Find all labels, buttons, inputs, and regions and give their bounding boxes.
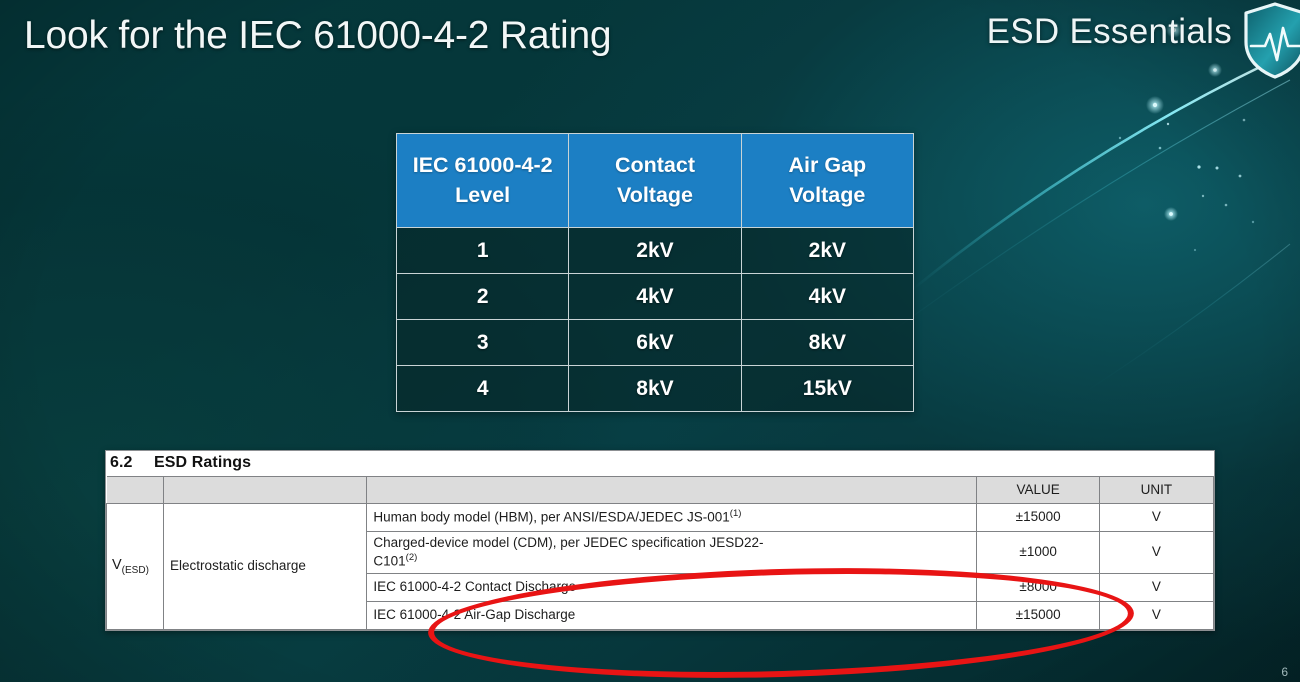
cell-condition: IEC 61000-4-2 Air-Gap Discharge	[367, 602, 977, 630]
condition-text: Human body model (HBM), per ANSI/ESDA/JE…	[373, 510, 729, 525]
cell-air-gap: 8kV	[741, 320, 913, 366]
header-line-2: Voltage	[742, 181, 913, 210]
cell-value: ±8000	[977, 574, 1099, 602]
cell-unit: V	[1099, 574, 1213, 602]
table-row: 4 8kV 15kV	[397, 366, 914, 412]
slide-canvas: Look for the IEC 61000-4-2 Rating ESD Es…	[0, 0, 1300, 682]
header-line-2: Level	[397, 181, 568, 210]
section-number: 6.2	[110, 454, 154, 472]
symbol-text: V	[112, 557, 122, 573]
iec-level-table: IEC 61000-4-2 Level Contact Voltage Air …	[396, 133, 914, 412]
cell-value: ±15000	[977, 602, 1099, 630]
cell-level: 2	[397, 274, 569, 320]
datasheet-section-heading: 6.2ESD Ratings	[106, 451, 1214, 476]
column-header-parameter	[164, 477, 367, 504]
cell-symbol: V(ESD)	[107, 504, 164, 630]
column-header-air-gap-voltage: Air Gap Voltage	[741, 134, 913, 228]
cell-contact: 8kV	[569, 366, 741, 412]
column-header-value: VALUE	[977, 477, 1099, 504]
header-line-1: Contact	[569, 151, 740, 180]
cell-level: 3	[397, 320, 569, 366]
column-header-level: IEC 61000-4-2 Level	[397, 134, 569, 228]
cell-unit: V	[1099, 504, 1213, 532]
cell-air-gap: 15kV	[741, 366, 913, 412]
cell-condition: Human body model (HBM), per ANSI/ESDA/JE…	[367, 504, 977, 532]
cell-condition: Charged-device model (CDM), per JEDEC sp…	[367, 532, 977, 574]
cell-value: ±1000	[977, 532, 1099, 574]
symbol-subscript: (ESD)	[122, 565, 149, 576]
header-line-1: IEC 61000-4-2	[397, 151, 568, 180]
cell-air-gap: 2kV	[741, 228, 913, 274]
shield-pulse-icon	[1242, 2, 1300, 80]
cell-contact: 6kV	[569, 320, 741, 366]
column-header-contact-voltage: Contact Voltage	[569, 134, 741, 228]
cell-air-gap: 4kV	[741, 274, 913, 320]
table-header-row: IEC 61000-4-2 Level Contact Voltage Air …	[397, 134, 914, 228]
cell-contact: 2kV	[569, 228, 741, 274]
cell-unit: V	[1099, 532, 1213, 574]
page-title: Look for the IEC 61000-4-2 Rating	[24, 14, 611, 58]
cell-condition: IEC 61000-4-2 Contact Discharge	[367, 574, 977, 602]
table-row: 3 6kV 8kV	[397, 320, 914, 366]
page-number: 6	[1281, 665, 1288, 679]
cell-unit: V	[1099, 602, 1213, 630]
cell-level: 4	[397, 366, 569, 412]
header-line-2: Voltage	[569, 181, 740, 210]
table-row: 2 4kV 4kV	[397, 274, 914, 320]
table-row: 1 2kV 2kV	[397, 228, 914, 274]
condition-text-line2: C101	[373, 553, 405, 568]
section-title: ESD Ratings	[154, 454, 251, 471]
cell-value: ±15000	[977, 504, 1099, 532]
cell-contact: 4kV	[569, 274, 741, 320]
esd-ratings-table: VALUE UNIT V(ESD) Electrostatic discharg…	[106, 476, 1214, 630]
footnote-marker: (2)	[406, 552, 418, 563]
table-row: V(ESD) Electrostatic discharge Human bod…	[107, 504, 1214, 532]
cell-level: 1	[397, 228, 569, 274]
header-line-1: Air Gap	[742, 151, 913, 180]
column-header-unit: UNIT	[1099, 477, 1213, 504]
datasheet-excerpt: 6.2ESD Ratings VALUE UNIT V(ESD) Electro…	[105, 450, 1215, 631]
column-header-symbol	[107, 477, 164, 504]
condition-text: Charged-device model (CDM), per JEDEC sp…	[373, 535, 763, 550]
cell-parameter: Electrostatic discharge	[164, 504, 367, 630]
column-header-condition	[367, 477, 977, 504]
footnote-marker: (1)	[730, 508, 742, 519]
table-header-row: VALUE UNIT	[107, 477, 1214, 504]
brand-label: ESD Essentials	[987, 12, 1232, 52]
